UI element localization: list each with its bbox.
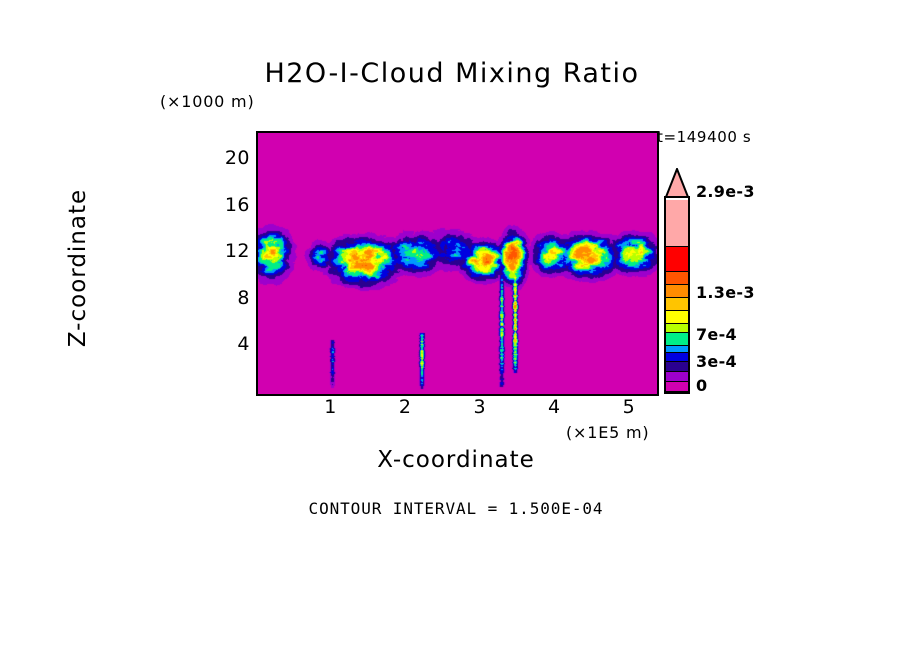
x-tick-label: 2 bbox=[385, 396, 425, 418]
y-tick-label: 4 bbox=[210, 333, 250, 355]
colorbar bbox=[664, 196, 690, 394]
x-axis-ticks: 12345 bbox=[256, 396, 655, 422]
colorbar-arrow-icon bbox=[664, 168, 690, 198]
page-title: H2O-I-Cloud Mixing Ratio bbox=[0, 58, 904, 89]
colorbar-band bbox=[666, 353, 688, 362]
x-tick-label: 1 bbox=[311, 396, 351, 418]
y-tick-label: 20 bbox=[210, 147, 250, 169]
colorbar-tick-label: 2.9e-3 bbox=[696, 182, 755, 201]
colorbar-band bbox=[666, 372, 688, 382]
x-tick-label: 5 bbox=[609, 396, 649, 418]
colorbar-band bbox=[666, 311, 688, 324]
colorbar-band bbox=[666, 333, 688, 346]
contour-plot-area bbox=[256, 131, 659, 396]
contour-interval-label: CONTOUR INTERVAL = 1.500E-04 bbox=[156, 499, 756, 518]
colorbar-band bbox=[666, 247, 688, 272]
plot-root: H2O-I-Cloud Mixing Ratio (×1000 m) t=149… bbox=[0, 0, 904, 654]
colorbar-band bbox=[666, 382, 688, 392]
y-tick-label: 12 bbox=[210, 240, 250, 262]
colorbar-tick-label: 1.3e-3 bbox=[696, 283, 755, 302]
x-axis-title: X-coordinate bbox=[256, 447, 656, 473]
time-label: t=149400 s bbox=[657, 128, 751, 146]
colorbar-tick-label: 3e-4 bbox=[696, 352, 737, 371]
colorbar-band bbox=[666, 346, 688, 353]
x-tick-label: 4 bbox=[534, 396, 574, 418]
x-axis-unit-label: (×1E5 m) bbox=[566, 423, 649, 442]
colorbar-tick-label: 0 bbox=[696, 376, 707, 395]
colorbar-band bbox=[666, 324, 688, 333]
colorbar-band bbox=[666, 200, 688, 247]
colorbar-band bbox=[666, 298, 688, 311]
contour-canvas bbox=[258, 133, 657, 394]
y-axis-ticks: 48121620 bbox=[204, 131, 250, 392]
colorbar-band bbox=[666, 272, 688, 285]
x-tick-label: 3 bbox=[460, 396, 500, 418]
z-axis-unit-label: (×1000 m) bbox=[160, 92, 254, 111]
colorbar-tick-label: 7e-4 bbox=[696, 325, 737, 344]
y-tick-label: 8 bbox=[210, 287, 250, 309]
colorbar-band bbox=[666, 362, 688, 372]
y-axis-title: Z-coordinate bbox=[65, 138, 91, 398]
y-tick-label: 16 bbox=[210, 194, 250, 216]
colorbar-band bbox=[666, 285, 688, 298]
